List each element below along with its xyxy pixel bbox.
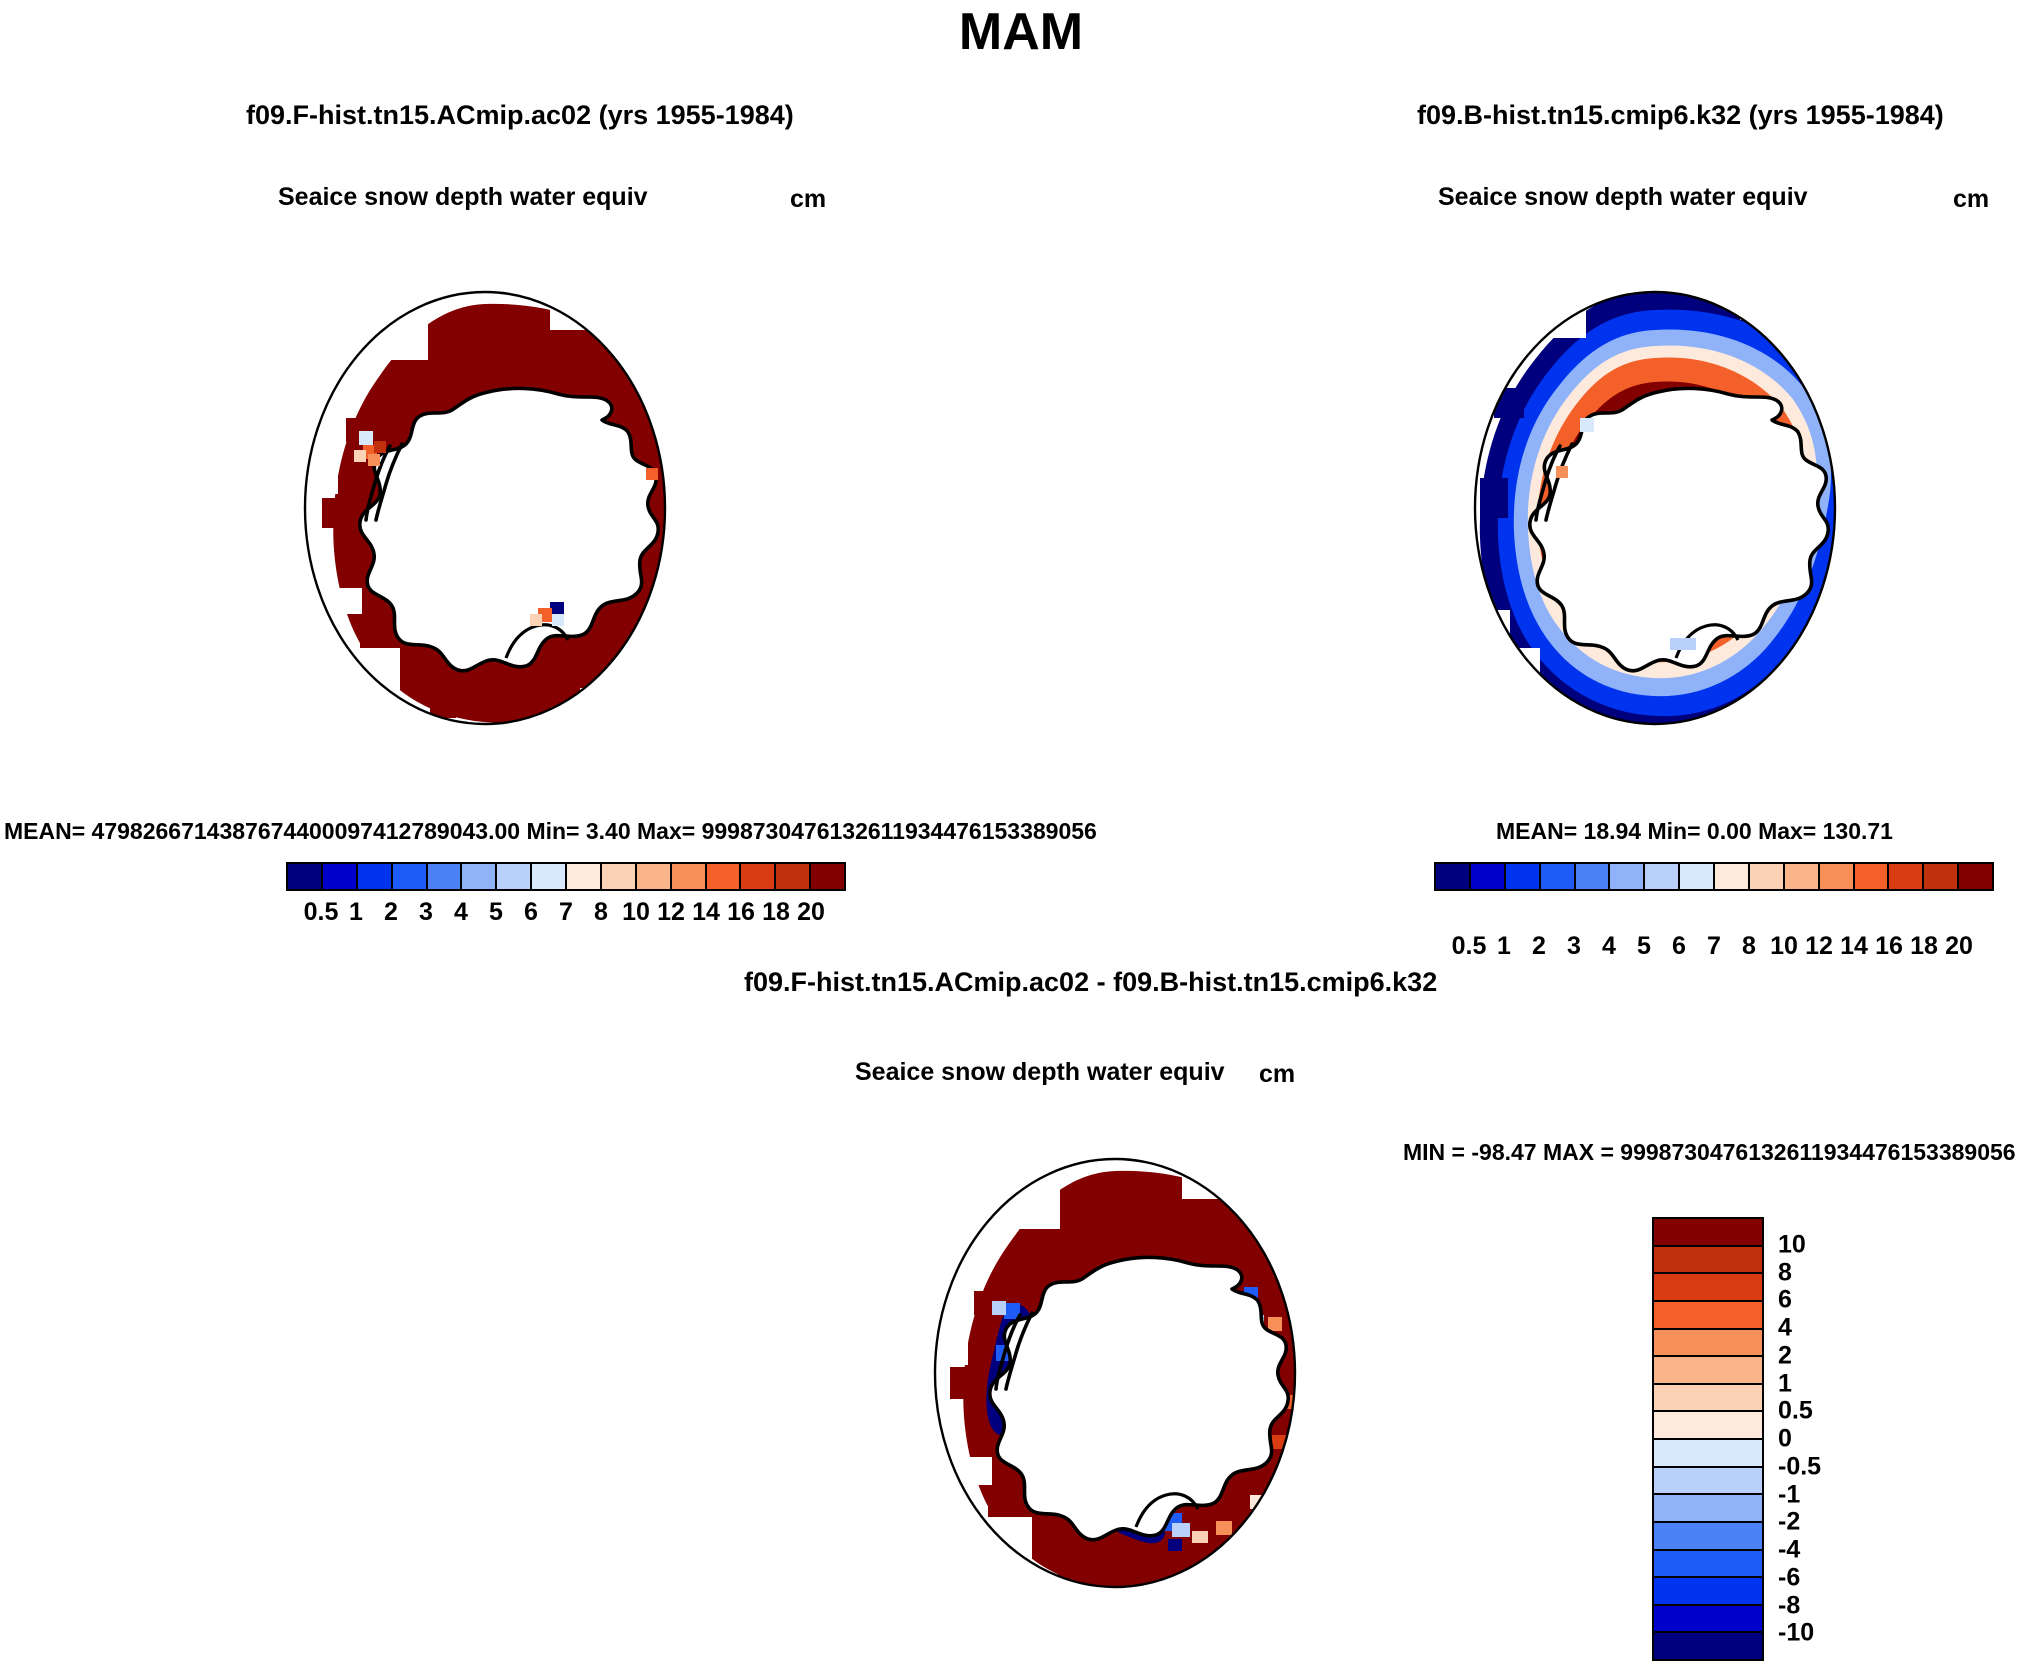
colorbar-tick-label: 10 — [1770, 932, 1798, 961]
variable-label-diff: Seaice snow depth water equiv — [855, 1058, 1225, 1087]
colorbar-horizontal-left — [286, 862, 846, 891]
colorbar-tick-label: 1 — [1497, 932, 1511, 961]
colorbar-cell — [1654, 1633, 1762, 1659]
colorbar-tick-label: -10 — [1778, 1619, 1814, 1648]
colorbar-vertical-diff — [1652, 1217, 1764, 1661]
colorbar-cell — [1654, 1606, 1762, 1634]
colorbar-tick-label: 4 — [1602, 932, 1616, 961]
colorbar-tick-label: 2 — [1778, 1341, 1792, 1370]
stats-left: MEAN= 4798266714387674400097412789043.00… — [4, 818, 1097, 845]
colorbar-tick-label: 0.5 — [304, 898, 339, 927]
colorbar-tick-label: 20 — [1945, 932, 1973, 961]
colorbar-tick-label: -2 — [1778, 1508, 1800, 1537]
colorbar-cell — [1654, 1330, 1762, 1358]
colorbar-cell — [288, 864, 323, 889]
colorbar-tick-label: 0.5 — [1452, 932, 1487, 961]
colorbar-tick-label: 12 — [1805, 932, 1833, 961]
map-diff — [880, 1095, 1350, 1655]
colorbar-cell — [1654, 1440, 1762, 1468]
colorbar-cell — [811, 864, 844, 889]
colorbar-tick-label: 14 — [1840, 932, 1868, 961]
panel-title-right: f09.B-hist.tn15.cmip6.k32 (yrs 1955-1984… — [1417, 100, 1944, 131]
map-left — [250, 218, 720, 798]
colorbar-tick-label: 18 — [762, 898, 790, 927]
colorbar-labels-left: 0.512345678101214161820 — [286, 898, 846, 932]
colorbar-cell — [672, 864, 707, 889]
colorbar-cell — [1576, 864, 1611, 889]
colorbar-tick-label: -0.5 — [1778, 1452, 1821, 1481]
colorbar-cell — [532, 864, 567, 889]
colorbar-tick-label: -4 — [1778, 1536, 1800, 1565]
colorbar-vertical-labels: 10864210.50-0.5-1-2-4-6-8-10 — [1778, 1217, 1898, 1661]
page-title: MAM — [0, 2, 2042, 62]
colorbar-tick-label: 12 — [657, 898, 685, 927]
colorbar-tick-label: 4 — [454, 898, 468, 927]
colorbar-tick-label: 16 — [727, 898, 755, 927]
colorbar-cell — [1654, 1219, 1762, 1247]
colorbar-cell — [776, 864, 811, 889]
colorbar-tick-label: 6 — [1778, 1286, 1792, 1315]
colorbar-cell — [1654, 1551, 1762, 1579]
colorbar-cell — [637, 864, 672, 889]
colorbar-cell — [567, 864, 602, 889]
colorbar-cell — [1715, 864, 1750, 889]
colorbar-cell — [1750, 864, 1785, 889]
colorbar-cell — [393, 864, 428, 889]
colorbar-cell — [1654, 1385, 1762, 1413]
colorbar-tick-label: 6 — [1672, 932, 1686, 961]
map-right — [1420, 218, 1890, 798]
colorbar-tick-label: 8 — [1778, 1258, 1792, 1287]
colorbar-tick-label: 1 — [1778, 1369, 1792, 1398]
colorbar-tick-label: 6 — [524, 898, 538, 927]
colorbar-labels-right: 0.512345678101214161820 — [1434, 932, 1994, 966]
colorbar-cell — [462, 864, 497, 889]
colorbar-cell — [1855, 864, 1890, 889]
colorbar-tick-label: 7 — [1707, 932, 1721, 961]
colorbar-tick-label: 10 — [1778, 1230, 1806, 1259]
colorbar-cell — [1654, 1495, 1762, 1523]
colorbar-cell — [1820, 864, 1855, 889]
colorbar-tick-label: 0.5 — [1778, 1397, 1813, 1426]
colorbar-cell — [1680, 864, 1715, 889]
unit-label-right: cm — [1953, 185, 1989, 214]
colorbar-tick-label: 16 — [1875, 932, 1903, 961]
colorbar-cell — [1610, 864, 1645, 889]
colorbar-tick-label: 8 — [1742, 932, 1756, 961]
colorbar-cell — [1654, 1247, 1762, 1275]
colorbar-cell — [1959, 864, 1992, 889]
colorbar-cell — [1654, 1578, 1762, 1606]
colorbar-cell — [1654, 1357, 1762, 1385]
colorbar-tick-label: -8 — [1778, 1591, 1800, 1620]
colorbar-cell — [602, 864, 637, 889]
colorbar-cell — [1654, 1274, 1762, 1302]
colorbar-tick-label: 20 — [797, 898, 825, 927]
colorbar-tick-label: -1 — [1778, 1480, 1800, 1509]
colorbar-cell — [323, 864, 358, 889]
colorbar-tick-label: 2 — [384, 898, 398, 927]
colorbar-cell — [741, 864, 776, 889]
colorbar-tick-label: 1 — [349, 898, 363, 927]
variable-label-left: Seaice snow depth water equiv — [278, 183, 648, 212]
colorbar-cell — [1506, 864, 1541, 889]
colorbar-cell — [428, 864, 463, 889]
variable-label-right: Seaice snow depth water equiv — [1438, 183, 1808, 212]
unit-label-diff: cm — [1259, 1060, 1295, 1089]
colorbar-tick-label: 14 — [692, 898, 720, 927]
colorbar-tick-label: 10 — [622, 898, 650, 927]
colorbar-tick-label: 2 — [1532, 932, 1546, 961]
colorbar-cell — [1645, 864, 1680, 889]
colorbar-tick-label: 4 — [1778, 1314, 1792, 1343]
colorbar-cell — [1654, 1523, 1762, 1551]
colorbar-horizontal-right — [1434, 862, 1994, 891]
colorbar-cell — [1889, 864, 1924, 889]
stats-right: MEAN= 18.94 Min= 0.00 Max= 130.71 — [1496, 818, 1893, 845]
colorbar-tick-label: 0 — [1778, 1425, 1792, 1454]
stats-diff: MIN = -98.47 MAX = 999873047613261193447… — [1403, 1139, 2016, 1166]
colorbar-tick-label: 5 — [1637, 932, 1651, 961]
colorbar-cell — [707, 864, 742, 889]
colorbar-cell — [1654, 1302, 1762, 1330]
panel-title-left: f09.F-hist.tn15.ACmip.ac02 (yrs 1955-198… — [246, 100, 794, 131]
colorbar-tick-label: 3 — [1567, 932, 1581, 961]
colorbar-cell — [1654, 1468, 1762, 1496]
colorbar-tick-label: 7 — [559, 898, 573, 927]
colorbar-cell — [497, 864, 532, 889]
colorbar-tick-label: -6 — [1778, 1563, 1800, 1592]
colorbar-cell — [1436, 864, 1471, 889]
colorbar-cell — [1471, 864, 1506, 889]
unit-label-left: cm — [790, 185, 826, 214]
colorbar-tick-label: 5 — [489, 898, 503, 927]
colorbar-cell — [1924, 864, 1959, 889]
panel-title-diff: f09.F-hist.tn15.ACmip.ac02 - f09.B-hist.… — [744, 967, 1437, 998]
colorbar-cell — [1654, 1412, 1762, 1440]
colorbar-tick-label: 3 — [419, 898, 433, 927]
colorbar-tick-label: 18 — [1910, 932, 1938, 961]
colorbar-cell — [358, 864, 393, 889]
colorbar-cell — [1541, 864, 1576, 889]
colorbar-tick-label: 8 — [594, 898, 608, 927]
colorbar-cell — [1785, 864, 1820, 889]
